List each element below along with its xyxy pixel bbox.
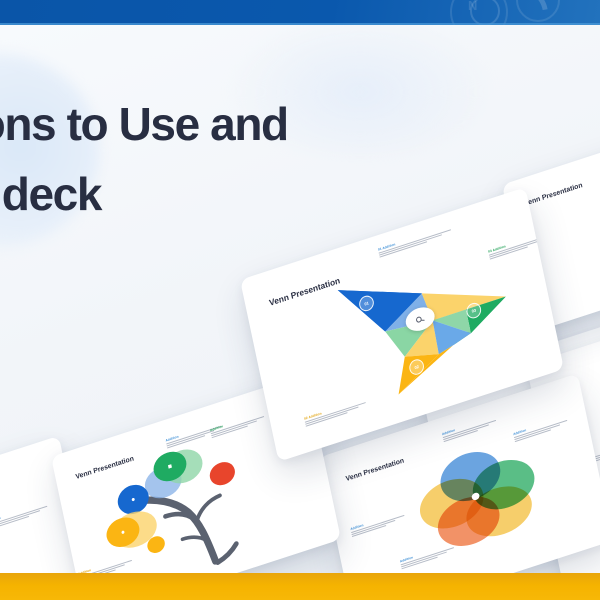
card-title: Venn Presentation	[345, 457, 405, 483]
page-title: ...ctions to Use and ...his deck	[0, 100, 534, 219]
headline-line-1: ...ctions to Use and	[0, 98, 288, 150]
brand-glyph: N	[468, 0, 476, 13]
slide-stage: Venn Presentation Addition Addition Addi…	[0, 0, 600, 600]
top-accent-bar: N	[0, 0, 600, 25]
card-label: Addition	[350, 509, 407, 538]
venn-diagram	[411, 432, 545, 564]
card-title: Venn Presentation	[524, 182, 584, 208]
bottom-accent-bar	[0, 573, 600, 600]
card-label: Addition	[0, 500, 50, 531]
card-label: Addition	[442, 414, 499, 443]
card-label: Addition	[513, 414, 570, 443]
top-bar-edge	[0, 23, 600, 25]
